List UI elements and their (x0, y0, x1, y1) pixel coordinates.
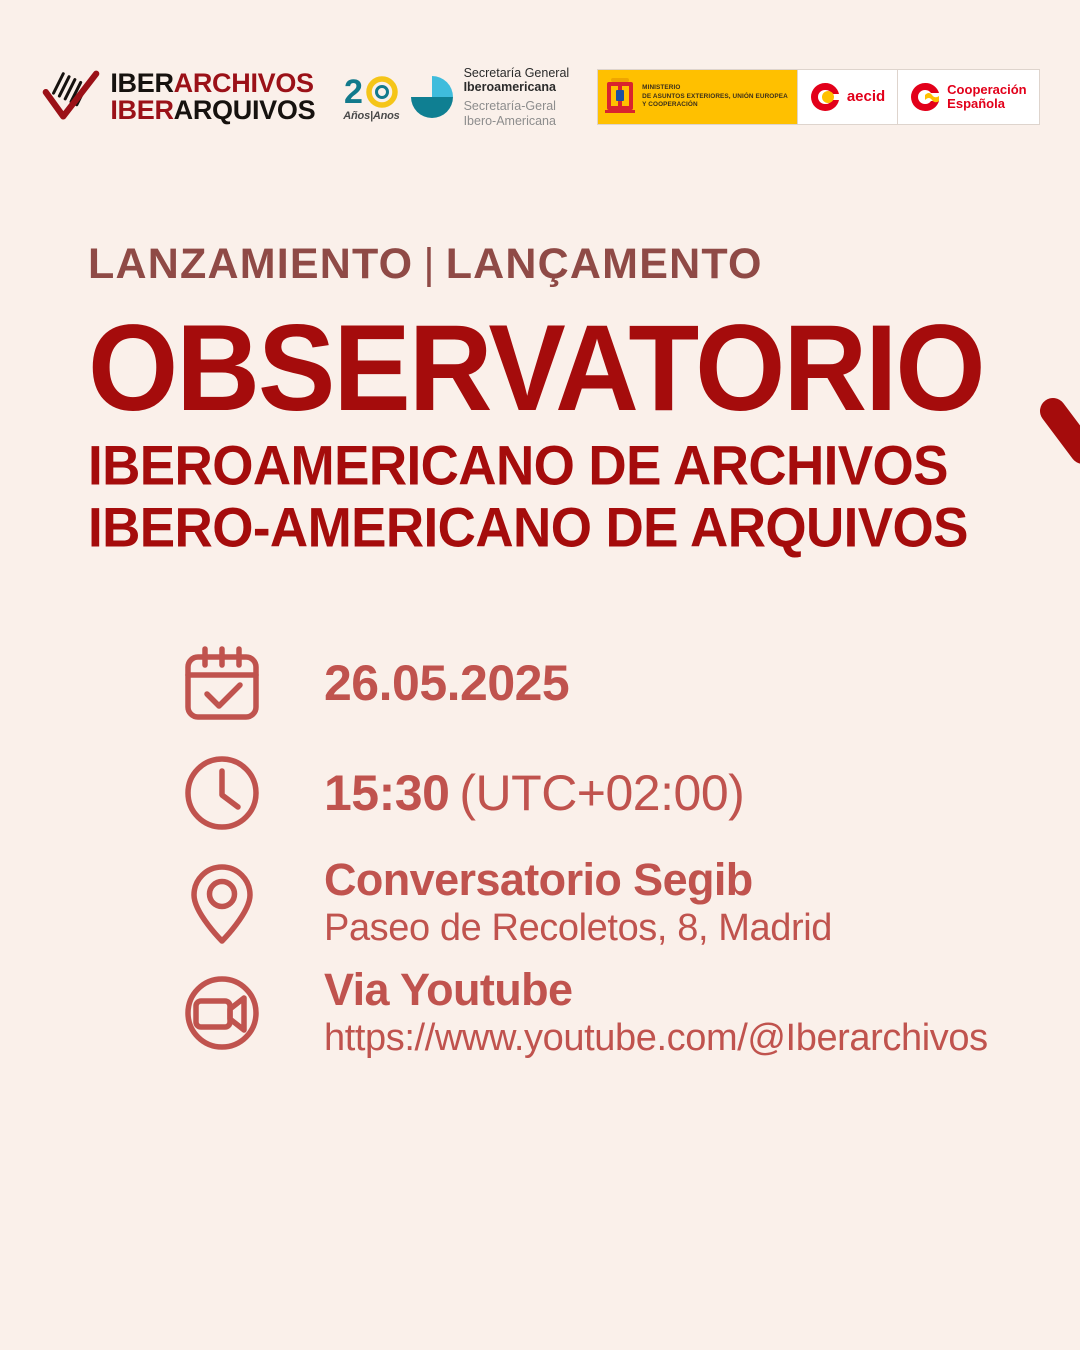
event-time: 15:30 (324, 765, 449, 821)
iberarchivos-line2-part1: IBER (110, 95, 173, 125)
clock-icon (170, 745, 274, 841)
poster-canvas: IBERARCHIVOS IBERARQUIVOS 2 Años|Anos (0, 0, 1080, 1350)
cooperacion-label-line1: Cooperación (947, 82, 1026, 97)
video-camera-icon (170, 965, 274, 1061)
venue-address: Paseo de Recoletos, 8, Madrid (324, 907, 1050, 950)
logo-gobierno-espana: MINISTERIO DE ASUNTOS EXTERIORES, UNIÓN … (597, 69, 1039, 125)
event-date: 26.05.2025 (324, 658, 1050, 708)
aecid-cell: aecid (797, 70, 897, 124)
kicker-es: LANZAMIENTO (88, 240, 413, 288)
segib-text-block: Secretaría General Iberoamericana Secret… (464, 66, 570, 129)
iberarchivos-line1-part2: ARCHIVOS (174, 68, 314, 98)
iberarchivos-line1-part1: IBER (110, 68, 173, 98)
iberarchivos-wordmark: IBERARCHIVOS IBERARQUIVOS (110, 70, 315, 124)
subtitle-pt: IBERO-AMERICANO DE ARQUIVOS (88, 497, 1048, 559)
main-title-wrap: OBSERVATORIO (88, 306, 1048, 411)
kicker-pt: LANÇAMENTO (446, 240, 763, 288)
detail-row-time: 15:30(UTC+02:00) (170, 738, 1050, 848)
event-details: 26.05.2025 15:30(UTC+02:00) (170, 628, 1050, 1068)
detail-text-venue: Conversatorio Segib Paseo de Recoletos, … (324, 856, 1050, 949)
svg-text:2: 2 (344, 73, 363, 109)
segib-pinwheel-logo-icon (409, 74, 455, 120)
segib-anniversary: 2 Años|Anos (343, 73, 399, 122)
headline-block: LANZAMIENTO|LANÇAMENTO OBSERVATORIO IBER… (88, 243, 1048, 554)
archive-book-check-logo-icon (40, 66, 102, 128)
stream-platform: Via Youtube (324, 966, 1050, 1015)
segib-anniversary-caption: Años|Anos (343, 110, 399, 122)
logo-iberarchivos: IBERARCHIVOS IBERARQUIVOS (40, 66, 315, 128)
detail-text-time: 15:30(UTC+02:00) (324, 768, 1050, 818)
detail-row-date: 26.05.2025 (170, 628, 1050, 738)
iberarchivos-line2-part2: ARQUIVOS (174, 95, 316, 125)
ministerio-text: MINISTERIO DE ASUNTOS EXTERIORES, UNIÓN … (642, 84, 788, 109)
subtitle-es: IBEROAMERICANO DE ARCHIVOS (88, 435, 1048, 497)
detail-text-stream: Via Youtube https://www.youtube.com/@Ibe… (324, 966, 1050, 1059)
aecid-label: aecid (847, 89, 885, 105)
event-timezone: (UTC+02:00) (449, 765, 744, 821)
logo-bar: IBERARCHIVOS IBERARQUIVOS 2 Años|Anos (0, 52, 1080, 142)
cooperacion-espanola-c-logo-icon (910, 82, 940, 112)
detail-row-venue: Conversatorio Segib Paseo de Recoletos, … (170, 848, 1050, 958)
segib-text-pt-line1: Secretaría-Geral (464, 99, 556, 113)
subtitle-block: IBEROAMERICANO DE ARCHIVOS IBERO-AMERICA… (88, 435, 1048, 560)
ministerio-line3: Y COOPERACIÓN (642, 101, 698, 108)
ministerio-line1: MINISTERIO (642, 84, 680, 91)
segib-text-pt-line2: Ibero-Americana (464, 114, 556, 128)
logo-segib: 2 Años|Anos Secretaría General Iberoamer… (343, 66, 569, 129)
cooperacion-label-line2: Española (947, 96, 1005, 111)
detail-text-date: 26.05.2025 (324, 658, 1050, 708)
segib-text-es-line2: Iberoamericana (464, 80, 556, 94)
kicker-separator: | (413, 240, 445, 288)
cooperacion-espanola-label: Cooperación Española (947, 83, 1026, 111)
kicker-line: LANZAMIENTO|LANÇAMENTO (88, 243, 1048, 286)
spain-coat-of-arms-icon (605, 76, 635, 118)
segib-text-es-line1: Secretaría General (464, 66, 570, 80)
detail-row-stream: Via Youtube https://www.youtube.com/@Ibe… (170, 958, 1050, 1068)
venue-name: Conversatorio Segib (324, 856, 1050, 905)
cooperacion-espanola-cell: Cooperación Española (897, 70, 1038, 124)
page-title: OBSERVATORIO (88, 306, 1048, 429)
ministerio-cell: MINISTERIO DE ASUNTOS EXTERIORES, UNIÓN … (598, 70, 797, 124)
aecid-c-logo-icon (810, 82, 840, 112)
stream-url: https://www.youtube.com/@Iberarchivos (324, 1017, 1050, 1060)
calendar-check-icon (170, 635, 274, 731)
segib-20-icon: 2 (344, 73, 398, 109)
ministerio-line2: DE ASUNTOS EXTERIORES, UNIÓN EUROPEA (642, 93, 788, 100)
map-pin-icon (170, 855, 274, 951)
